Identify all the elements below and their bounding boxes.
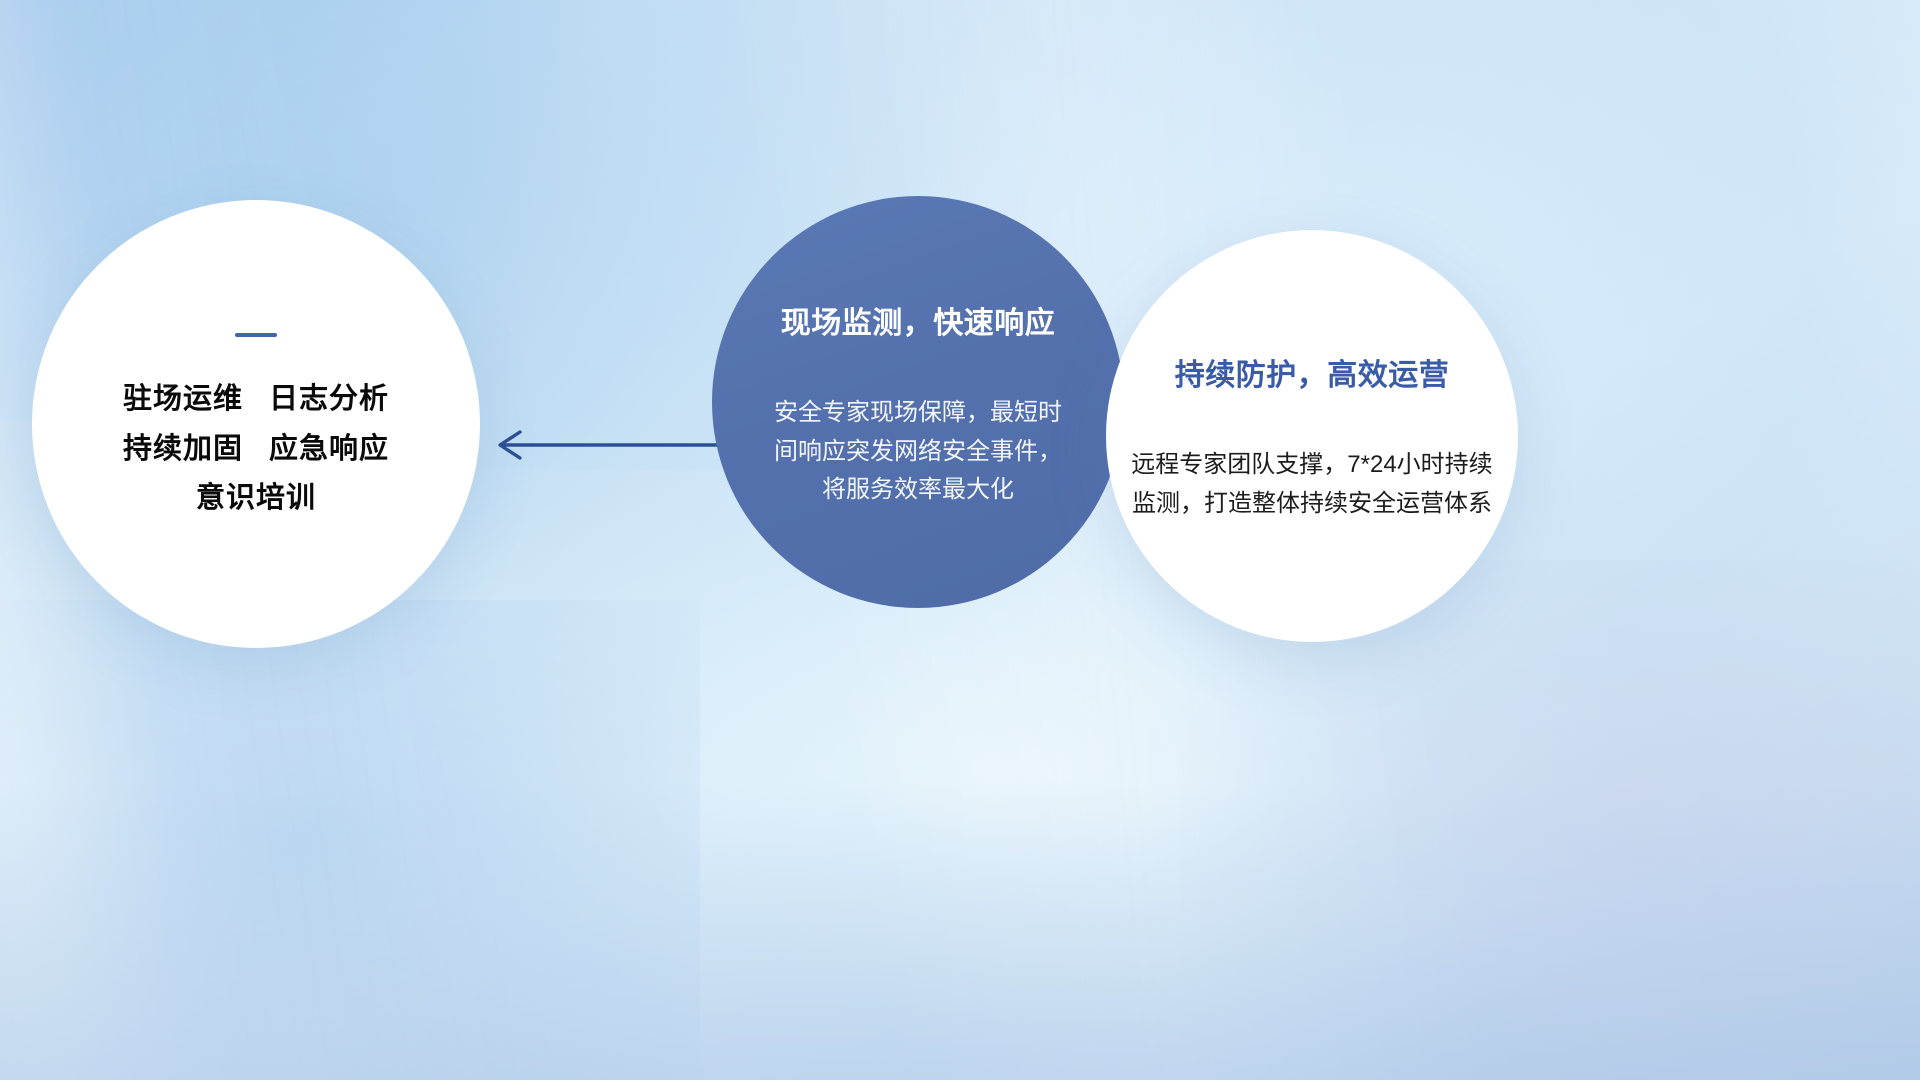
service-keyword: 应急响应 [269,433,389,465]
list-item-row: 意识培训 [123,482,389,514]
service-keyword: 持续加固 [123,433,243,465]
service-keyword: 日志分析 [269,383,389,415]
services-circle-left[interactable]: 驻场运维 日志分析 持续加固 应急响应 意识培训 [32,200,480,648]
onsite-monitoring-title: 现场监测，快速响应 [781,298,1056,342]
service-keyword: 驻场运维 [123,383,243,415]
service-keyword: 意识培训 [196,482,316,514]
continuous-protection-description: 远程专家团队支撑，7*24小时持续监测，打造整体持续安全运营体系 [1130,446,1494,524]
continuous-protection-circle[interactable]: 持续防护，高效运营 远程专家团队支撑，7*24小时持续监测，打造整体持续安全运营… [1106,230,1518,642]
service-keyword-list: 驻场运维 日志分析 持续加固 应急响应 意识培训 [123,383,389,514]
arrow-pointing-left-icon [480,410,740,480]
onsite-monitoring-circle[interactable]: 现场监测，快速响应 安全专家现场保障，最短时间响应突发网络安全事件，将服务效率最… [712,196,1124,608]
list-item-row: 驻场运维 日志分析 [123,383,389,415]
divider-dash [235,333,277,337]
onsite-monitoring-description: 安全专家现场保障，最短时间响应突发网络安全事件，将服务效率最大化 [768,394,1068,511]
continuous-protection-title: 持续防护，高效运营 [1175,350,1450,394]
background-band-bottom [0,780,1920,1080]
list-item-row: 持续加固 应急响应 [123,433,389,465]
slide-canvas: 驻场运维 日志分析 持续加固 应急响应 意识培训 现场监测，快速响应 安全专家现… [0,0,1920,1080]
